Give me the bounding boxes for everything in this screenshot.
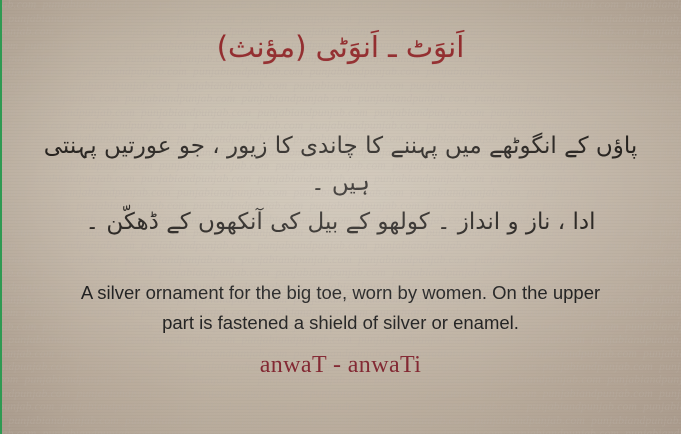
urdu-definition-line-1: پاؤں کے انگوٹھے میں پہننے کا چاندی کا زی… — [0, 128, 681, 202]
urdu-definition-line-2: ادا ، ناز و انداز ۔ کولھو کے بیل کی آنکھ… — [0, 204, 681, 241]
english-definition-line-1: A silver ornament for the big toe, worn … — [26, 278, 655, 308]
left-green-rule — [0, 0, 2, 434]
entry-content: اَنوَٹ ـ اَنوَٹی (مؤنث) پاؤں کے انگوٹھے … — [0, 0, 681, 434]
english-definition-line-2: part is fastened a shield of silver or e… — [26, 308, 655, 338]
transliteration-text: anwaT - anwaTi — [0, 352, 681, 379]
headword-title: اَنوَٹ ـ اَنوَٹی (مؤنث) — [0, 26, 681, 70]
english-definition: A silver ornament for the big toe, worn … — [0, 278, 681, 338]
dictionary-entry-page: punjabiandpunjab.com punjabiandpunjab.co… — [0, 0, 681, 434]
